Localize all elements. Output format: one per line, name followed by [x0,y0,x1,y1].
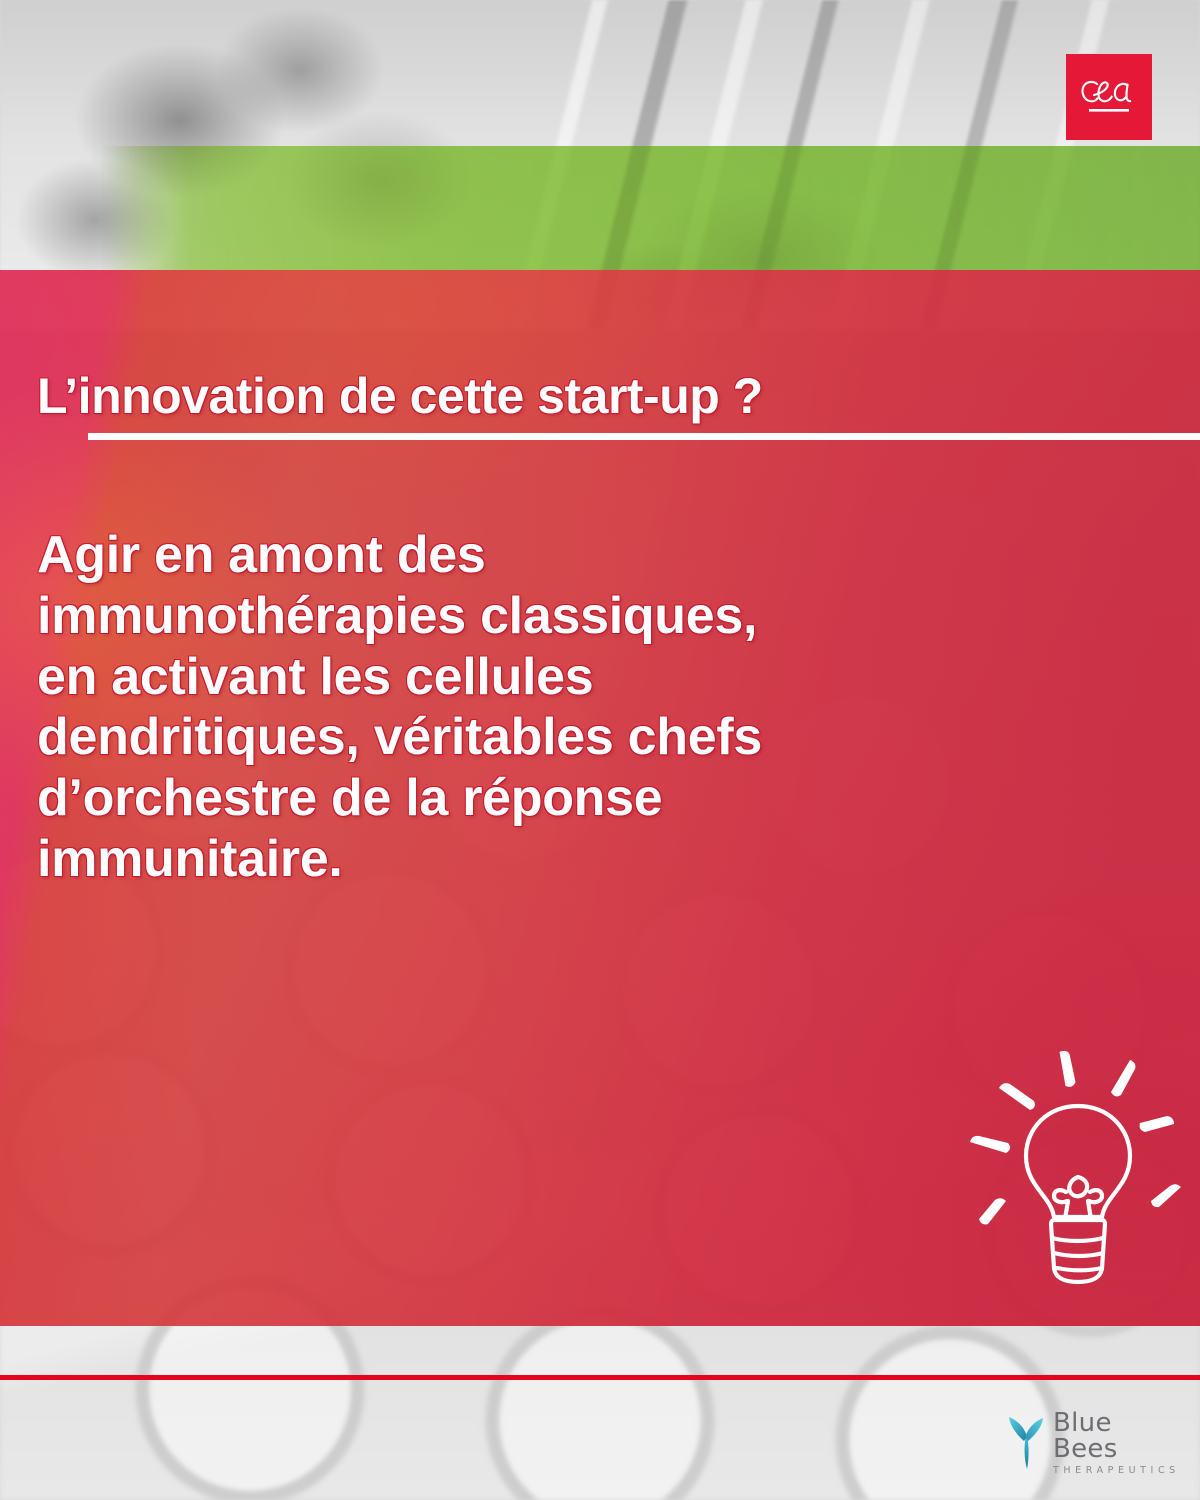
body-copy: Agir en amont des immunothérapies classi… [37,525,1147,890]
cea-logo[interactable] [1066,54,1152,140]
green-accent-band-highlight [0,146,1200,270]
body-line-4: dendritiques, véritables chefs [37,707,1147,768]
blue-bees-wordmark: Blue Bees THERAPEUTICS [1053,1410,1180,1476]
body-line-1: Agir en amont des [37,525,1147,586]
cea-wordmark-icon [1077,71,1141,123]
red-divider-line [0,1375,1200,1380]
blue-bees-name: Blue Bees [1053,1410,1180,1462]
blue-bees-tagline: THERAPEUTICS [1053,1466,1180,1476]
body-line-2: immunothérapies classiques, [37,586,1147,647]
blue-bees-therapeutics-logo[interactable]: Blue Bees THERAPEUTICS [1005,1412,1180,1474]
blue-bees-wing-mark-icon [1005,1415,1047,1471]
page-title: L’innovation de cette start-up ? [37,370,1157,422]
lightbulb-icon [962,1040,1192,1310]
body-line-6: immunitaire. [37,829,1147,890]
title-underline-rule [88,433,1200,440]
poster-root: L’innovation de cette start-up ? Agir en… [0,0,1200,1500]
body-line-5: d’orchestre de la réponse [37,768,1147,829]
cea-underline-icon [1089,109,1129,112]
body-line-3: en activant les cellules [37,647,1147,708]
